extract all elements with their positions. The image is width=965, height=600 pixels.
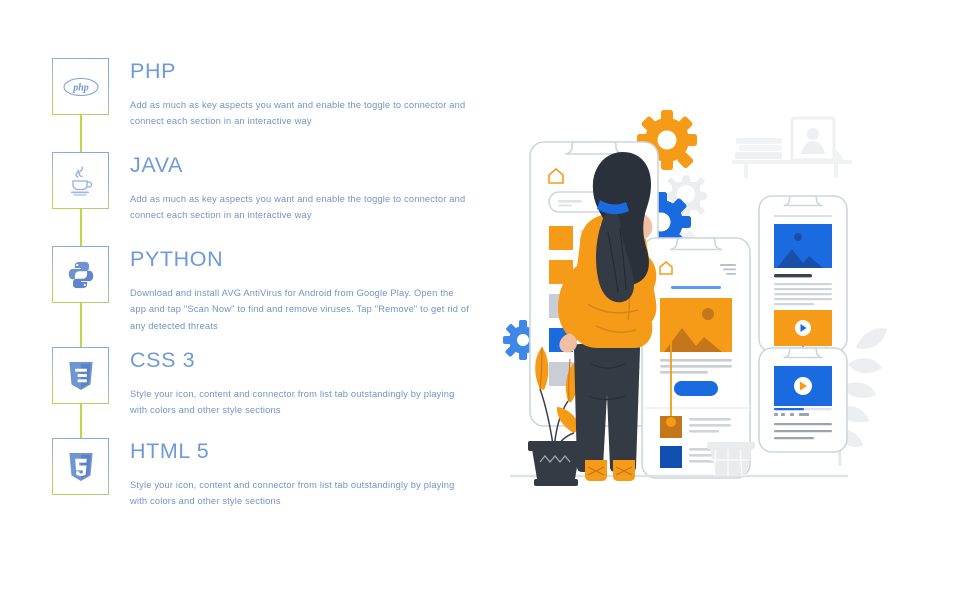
phone-mockup-right-bottom (759, 348, 847, 452)
list-item-title: JAVA (130, 155, 482, 177)
css3-icon-box[interactable] (52, 347, 109, 404)
svg-text:php: php (72, 82, 89, 93)
css3-icon (68, 361, 94, 391)
phone-mockup-right-top (759, 196, 847, 352)
list-item[interactable]: JAVA Add as much as key aspects you want… (52, 152, 482, 246)
html5-icon-box[interactable] (52, 438, 109, 495)
html5-icon (68, 452, 94, 482)
php-icon: php (63, 77, 99, 97)
list-item[interactable]: php PHP Add as much as key aspects you w… (52, 58, 482, 152)
list-item-title: CSS 3 (130, 350, 482, 372)
icon-cell: php (52, 58, 109, 115)
list-item-title: PHP (130, 61, 482, 83)
connector-line (80, 209, 82, 246)
list-item[interactable]: CSS 3 Style your icon, content and conne… (52, 347, 482, 438)
list-item-title: HTML 5 (130, 441, 482, 463)
list-item-description: Style your icon, content and connector f… (130, 477, 470, 511)
list-item[interactable]: PYTHON Download and install AVG AntiViru… (52, 246, 482, 347)
php-icon-box[interactable]: php (52, 58, 109, 115)
hero-illustration (496, 96, 958, 501)
list-item-title: PYTHON (130, 249, 482, 271)
text-cell: CSS 3 Style your icon, content and conne… (109, 347, 482, 419)
python-icon (66, 260, 96, 290)
list-item-description: Add as much as key aspects you want and … (130, 97, 470, 131)
java-icon (67, 165, 95, 197)
illustration-svg (496, 96, 958, 501)
text-cell: HTML 5 Style your icon, content and conn… (109, 438, 482, 510)
text-cell: PHP Add as much as key aspects you want … (109, 58, 482, 130)
text-cell: JAVA Add as much as key aspects you want… (109, 152, 482, 224)
icon-cell (52, 347, 109, 404)
icon-cell (52, 246, 109, 303)
slide-canvas: php PHP Add as much as key aspects you w… (0, 0, 965, 600)
text-cell: PYTHON Download and install AVG AntiViru… (109, 246, 482, 335)
java-icon-box[interactable] (52, 152, 109, 209)
list-item[interactable]: HTML 5 Style your icon, content and conn… (52, 438, 482, 508)
list-item-description: Download and install AVG AntiVirus for A… (130, 285, 470, 336)
list-item-description: Style your icon, content and connector f… (130, 386, 470, 420)
icon-cell (52, 152, 109, 209)
connector-line (80, 404, 82, 438)
list-item-description: Add as much as key aspects you want and … (130, 191, 470, 225)
feature-list: php PHP Add as much as key aspects you w… (52, 58, 482, 508)
python-icon-box[interactable] (52, 246, 109, 303)
icon-cell (52, 438, 109, 495)
wall-shelf (732, 118, 852, 178)
connector-line (80, 115, 82, 152)
connector-line (80, 303, 82, 347)
